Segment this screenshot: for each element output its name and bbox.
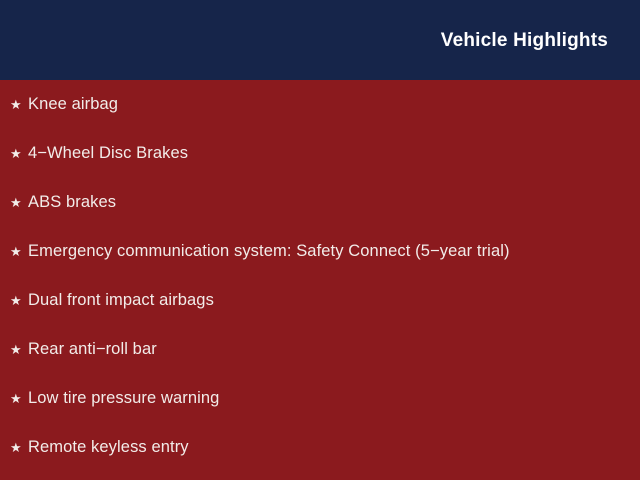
list-item: ★ Emergency communication system: Safety… — [0, 243, 640, 292]
list-item-label: Emergency communication system: Safety C… — [28, 243, 510, 260]
list-item-label: Knee airbag — [28, 96, 118, 113]
star-bullet-icon: ★ — [10, 294, 28, 307]
list-item: ★ Rear anti−roll bar — [0, 341, 640, 390]
list-item: ★ Remote keyless entry — [0, 439, 640, 480]
page-title: Vehicle Highlights — [441, 31, 608, 50]
list-item-label: Low tire pressure warning — [28, 390, 219, 407]
slide-header: Vehicle Highlights — [0, 0, 640, 80]
list-item: ★ 4−Wheel Disc Brakes — [0, 145, 640, 194]
star-bullet-icon: ★ — [10, 98, 28, 111]
list-item-label: ABS brakes — [28, 194, 116, 211]
vehicle-highlights-slide: Vehicle Highlights ★ Knee airbag ★ 4−Whe… — [0, 0, 640, 480]
list-item-label: Remote keyless entry — [28, 439, 189, 456]
star-bullet-icon: ★ — [10, 392, 28, 405]
list-item-label: Dual front impact airbags — [28, 292, 214, 309]
star-bullet-icon: ★ — [10, 196, 28, 209]
star-bullet-icon: ★ — [10, 147, 28, 160]
vehicle-highlights-list: ★ Knee airbag ★ 4−Wheel Disc Brakes ★ AB… — [0, 96, 640, 480]
list-item: ★ Low tire pressure warning — [0, 390, 640, 439]
star-bullet-icon: ★ — [10, 441, 28, 454]
list-item: ★ Dual front impact airbags — [0, 292, 640, 341]
star-bullet-icon: ★ — [10, 343, 28, 356]
list-item-label: 4−Wheel Disc Brakes — [28, 145, 188, 162]
star-bullet-icon: ★ — [10, 245, 28, 258]
list-item: ★ ABS brakes — [0, 194, 640, 243]
list-item-label: Rear anti−roll bar — [28, 341, 157, 358]
slide-body: ★ Knee airbag ★ 4−Wheel Disc Brakes ★ AB… — [0, 80, 640, 480]
list-item: ★ Knee airbag — [0, 96, 640, 145]
